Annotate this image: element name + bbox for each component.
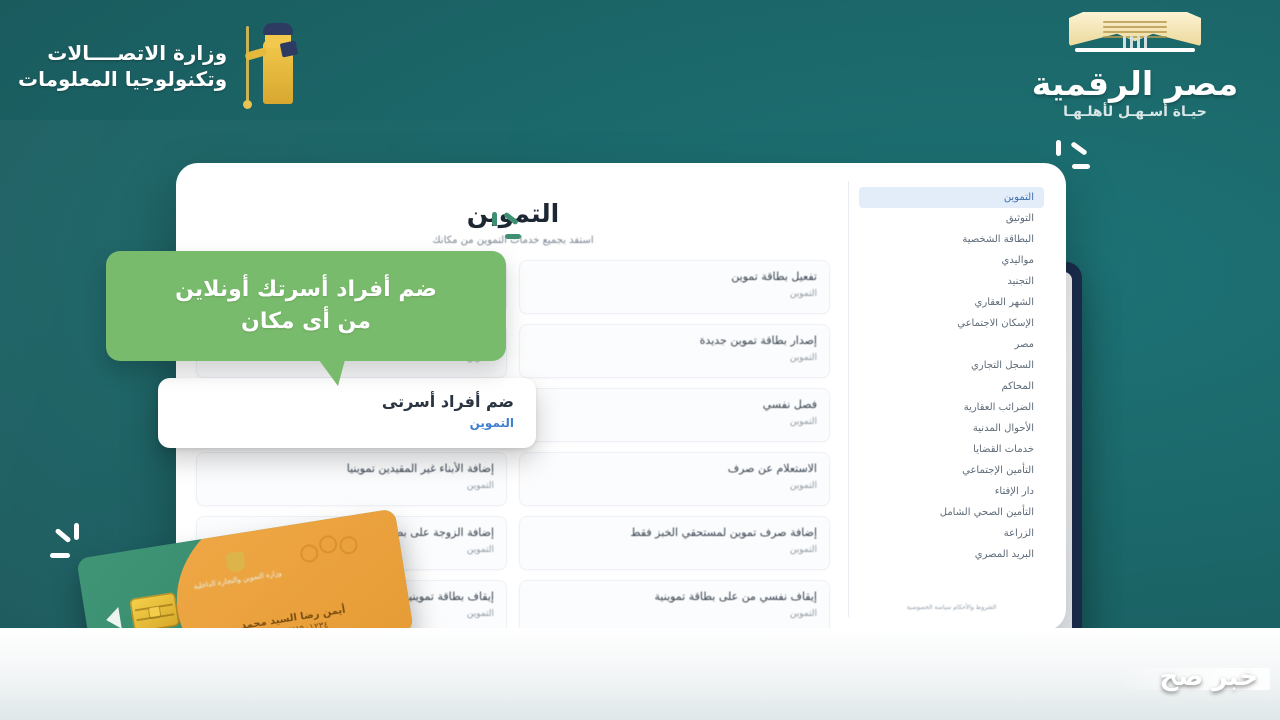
callout-bubble: ضم أفراد أسرتك أونلاين من أى مكان [106,251,506,361]
sidebar-item-14[interactable]: دار الإفتاء [859,481,1044,502]
ministry-logo-text: وزارة الاتصــــالات وتكنولوجيا المعلومات [18,40,227,93]
service-card[interactable]: إصدار بطاقة تموين جديدة التموين [519,324,830,378]
highlighted-service-category: التموين [158,416,514,430]
callout-bubble-tail [316,356,346,386]
service-category: التموين [532,417,817,427]
digital-egypt-title: مصر الرقمية [1020,64,1250,103]
watermark-text: خبر صح [1160,662,1258,692]
digital-egypt-tagline: حيـاة أسـهـل لأهلـهـا [1020,104,1250,120]
sidebar-item-6[interactable]: الإسكان الاجتماعي [859,313,1044,334]
service-name: فصل نفسي [532,398,817,411]
service-card[interactable]: الاستعلام عن صرف التموين [519,452,830,506]
service-category: التموين [532,481,817,491]
sidebar-item-11[interactable]: الأحوال المدنية [859,418,1044,439]
highlighted-service-name: ضم أفراد أسرتى [158,392,514,411]
service-card[interactable]: إضافة صرف تموين لمستحقي الخبز فقط التموي… [519,516,830,570]
sidebar-item-4[interactable]: التجنيد [859,271,1044,292]
sidebar-item-3[interactable]: مواليدي [859,250,1044,271]
service-name: إصدار بطاقة تموين جديدة [532,334,817,347]
highlighted-service-card[interactable]: ضم أفراد أسرتى التموين [158,378,536,448]
sidebar-item-5[interactable]: الشهر العقاري [859,292,1044,313]
desk-surface [0,628,1280,720]
sidebar-item-12[interactable]: خدمات القضايا [859,439,1044,460]
category-sidebar: التموين التوثيق البطاقة الشخصية مواليدي … [848,181,1048,617]
sidebar-item-15[interactable]: التأمين الصحي الشامل [859,502,1044,523]
callout-line2: من أى مكان [241,309,371,334]
ministry-logo-line2: وتكنولوجيا المعلومات [18,66,227,92]
sparkle-icon-content [487,212,527,246]
digital-egypt-book-icon [1020,6,1250,62]
ministry-logo-line1: وزارة الاتصــــالات [18,40,227,66]
service-category: التموين [532,545,817,555]
category-list[interactable]: التموين التوثيق البطاقة الشخصية مواليدي … [859,187,1044,565]
sidebar-item-7[interactable]: مصر [859,334,1044,355]
service-name: تفعيل بطاقة تموين [532,270,817,283]
sidebar-item-2[interactable]: البطاقة الشخصية [859,229,1044,250]
callout-line1: ضم أفراد أسرتك أونلاين [175,277,437,302]
service-card[interactable]: فصل نفسي التموين [519,388,830,442]
sidebar-item-9[interactable]: المحاكم [859,376,1044,397]
service-category: التموين [532,289,817,299]
pharaonic-scribe-icon [237,20,299,112]
service-category: التموين [532,353,817,363]
sidebar-item-17[interactable]: البريد المصري [859,544,1044,565]
service-card[interactable]: إضافة الأبناء غير المقيدين تموينيا التمو… [196,452,507,506]
sidebar-item-1[interactable]: التوثيق [859,208,1044,229]
scene-background: وزارة الاتصــــالات وتكنولوجيا المعلومات… [0,0,1280,720]
sidebar-item-16[interactable]: الزراعة [859,523,1044,544]
sidebar-item-13[interactable]: التأمين الإجتماعي [859,460,1044,481]
sidebar-item-10[interactable]: الضرائب العقارية [859,397,1044,418]
service-category: التموين [209,481,494,491]
ministry-logo: وزارة الاتصــــالات وتكنولوجيا المعلومات [18,18,348,114]
service-name: إضافة الأبناء غير المقيدين تموينيا [209,462,494,475]
callout-text: ضم أفراد أسرتك أونلاين من أى مكان [161,274,451,338]
digital-egypt-logo: مصر الرقمية حيـاة أسـهـل لأهلـهـا [1020,6,1250,126]
service-name: إيقاف نفسي من على بطاقة تموينية [532,590,817,603]
service-name: إضافة صرف تموين لمستحقي الخبز فقط [532,526,817,539]
sidebar-item-8[interactable]: السجل التجاري [859,355,1044,376]
sidebar-item-altamween[interactable]: التموين [859,187,1044,208]
service-name: الاستعلام عن صرف [532,462,817,475]
service-card[interactable]: تفعيل بطاقة تموين التموين [519,260,830,314]
